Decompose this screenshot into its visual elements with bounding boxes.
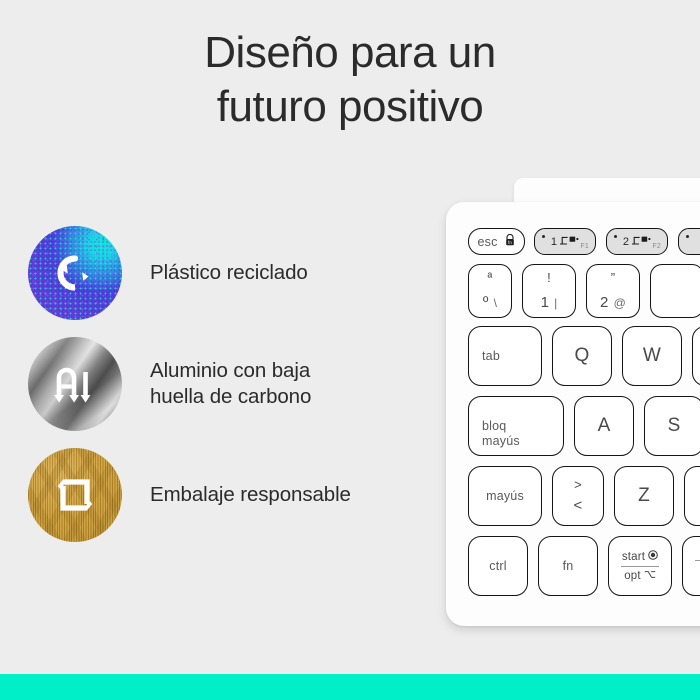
recycled-plastic-icon [28, 226, 122, 320]
key-split-divider [695, 560, 700, 561]
key-2[interactable]: ” 2@ [586, 264, 640, 318]
key-start-label: start [622, 551, 645, 563]
key-s[interactable]: S [644, 396, 700, 456]
key-caps-lock-line-1: bloq [482, 419, 563, 434]
key-2-top: ” [611, 270, 616, 285]
key-angle-bottom: < [574, 497, 583, 514]
key-ordinal[interactable]: ª º\ [468, 264, 512, 318]
key-angle-top: > [574, 477, 582, 492]
key-f2[interactable]: 2 F2 [606, 228, 668, 255]
screen-swap-icon [631, 235, 651, 249]
key-1-top: ! [547, 270, 551, 285]
bottom-accent-bar [0, 674, 700, 700]
key-ctrl[interactable]: ctrl [468, 536, 528, 596]
key-x[interactable] [684, 466, 700, 526]
feature-item-responsible-packaging: Embalaje responsable [28, 448, 428, 542]
keyboard-keys: esc fn 1 F1 [446, 202, 700, 626]
key-fn[interactable]: fn [538, 536, 598, 596]
page-title-line-2: futuro positivo [0, 80, 700, 134]
windows-start-icon [648, 550, 658, 563]
key-q[interactable]: Q [552, 326, 612, 386]
key-f3-indicator-dot [686, 235, 689, 238]
key-1[interactable]: ! 1| [522, 264, 576, 318]
key-caps-lock-line-2: mayús [482, 434, 563, 449]
key-f1-number: 1 [551, 236, 557, 248]
option-alt-icon [644, 570, 656, 582]
key-f1-fn-label: F1 [580, 243, 589, 250]
feature-label: Aluminio con baja huella de carbono [150, 358, 311, 410]
key-z[interactable]: Z [614, 466, 674, 526]
key-caps-lock[interactable]: bloq mayús [468, 396, 564, 456]
key-split-divider [621, 566, 659, 567]
fn-lock-icon: fn [504, 234, 516, 250]
key-start-half: start [622, 548, 658, 565]
key-angle-brackets[interactable]: > < [552, 466, 604, 526]
key-2-bottom: 2@ [600, 294, 626, 311]
key-1-bottom: 1| [541, 294, 558, 311]
key-f1[interactable]: 1 F1 [534, 228, 596, 255]
key-f2-number: 2 [623, 236, 629, 248]
key-esc[interactable]: esc fn [468, 228, 525, 255]
key-e[interactable] [692, 326, 700, 386]
feature-item-low-carbon-aluminium: Aluminio con baja huella de carbono [28, 337, 428, 431]
key-f2-indicator-dot [614, 235, 617, 238]
key-3[interactable] [650, 264, 700, 318]
key-f2-fn-label: F2 [652, 243, 661, 250]
key-start-opt[interactable]: start opt [608, 536, 672, 596]
responsible-packaging-icon [28, 448, 122, 542]
feature-label: Plástico reciclado [150, 260, 308, 286]
key-a[interactable]: A [574, 396, 634, 456]
feature-label: Embalaje responsable [150, 482, 351, 508]
key-shift[interactable]: mayús [468, 466, 542, 526]
page-title: Diseño para un futuro positivo [0, 26, 700, 134]
svg-text:fn: fn [508, 240, 512, 245]
key-cmd[interactable]: cr [682, 536, 700, 596]
key-opt-label: opt [624, 570, 641, 582]
feature-list: Plástico reciclado Aluminio con baja hue… [28, 226, 428, 559]
key-tab[interactable]: tab [468, 326, 542, 386]
keyboard-product-image: esc fn 1 F1 [446, 178, 700, 640]
key-ordinal-top: ª [487, 270, 492, 285]
low-carbon-aluminium-icon [28, 337, 122, 431]
key-f1-indicator-dot [542, 235, 545, 238]
key-esc-label: esc [477, 235, 497, 249]
feature-item-recycled-plastic: Plástico reciclado [28, 226, 428, 320]
screen-swap-icon [559, 235, 579, 249]
key-ordinal-bottom: º\ [483, 294, 497, 311]
key-w[interactable]: W [622, 326, 682, 386]
key-f3[interactable]: 3 [678, 228, 700, 255]
page-title-line-1: Diseño para un [0, 26, 700, 80]
key-opt-half: opt [624, 568, 656, 584]
